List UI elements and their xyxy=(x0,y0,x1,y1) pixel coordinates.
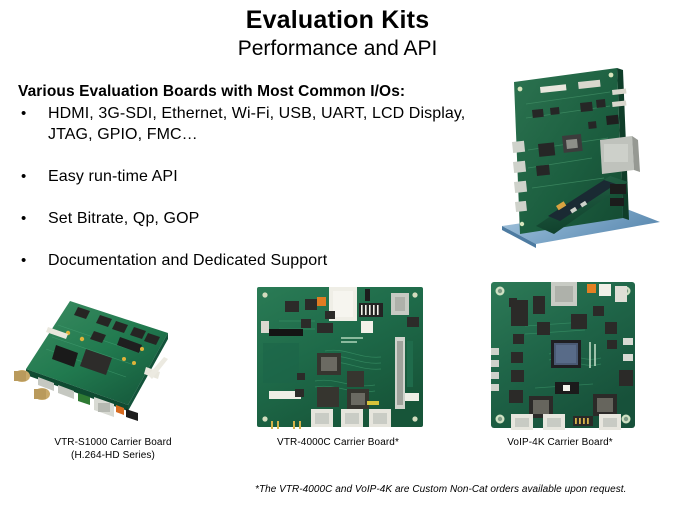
content-block: Various Evaluation Boards with Most Comm… xyxy=(18,82,478,271)
caption-board-1-line2: (H.264-HD Series) xyxy=(23,449,203,462)
list-item: • Easy run-time API xyxy=(18,166,478,187)
list-item-label: Set Bitrate, Qp, GOP xyxy=(48,208,199,229)
lead-line: Various Evaluation Boards with Most Comm… xyxy=(18,82,478,101)
bullet-marker-icon: • xyxy=(18,250,48,271)
footnote: *The VTR-4000C and VoIP-4K are Custom No… xyxy=(255,483,667,496)
bullet-marker-icon: • xyxy=(18,103,48,124)
page-title: Evaluation Kits xyxy=(0,6,675,34)
bullet-marker-icon: • xyxy=(18,208,48,229)
list-item-label: Easy run-time API xyxy=(48,166,178,187)
caption-board-1-line1: VTR-S1000 Carrier Board xyxy=(23,436,203,449)
caption-board-3-line1: VoIP-4K Carrier Board* xyxy=(470,436,650,449)
caption-board-2: VTR-4000C Carrier Board* xyxy=(248,436,428,449)
list-item: • HDMI, 3G-SDI, Ethernet, Wi-Fi, USB, UA… xyxy=(18,103,478,145)
vtr-4000c-board-image xyxy=(255,281,427,433)
list-item: • Set Bitrate, Qp, GOP xyxy=(18,208,478,229)
list-item: • Documentation and Dedicated Support xyxy=(18,250,478,271)
vtr-s1000-board-image xyxy=(8,293,186,433)
caption-board-1: VTR-S1000 Carrier Board (H.264-HD Series… xyxy=(23,436,203,462)
bullet-marker-icon: • xyxy=(18,166,48,187)
slide-canvas: Evaluation Kits Performance and API Vari… xyxy=(0,0,675,506)
caption-board-3: VoIP-4K Carrier Board* xyxy=(470,436,650,449)
list-item-label: HDMI, 3G-SDI, Ethernet, Wi-Fi, USB, UART… xyxy=(48,103,478,145)
voip-4k-board-image xyxy=(489,278,637,433)
evaluation-board-vertical-image xyxy=(492,58,667,263)
bullet-list: • HDMI, 3G-SDI, Ethernet, Wi-Fi, USB, UA… xyxy=(18,103,478,271)
caption-board-2-line1: VTR-4000C Carrier Board* xyxy=(248,436,428,449)
list-item-label: Documentation and Dedicated Support xyxy=(48,250,327,271)
